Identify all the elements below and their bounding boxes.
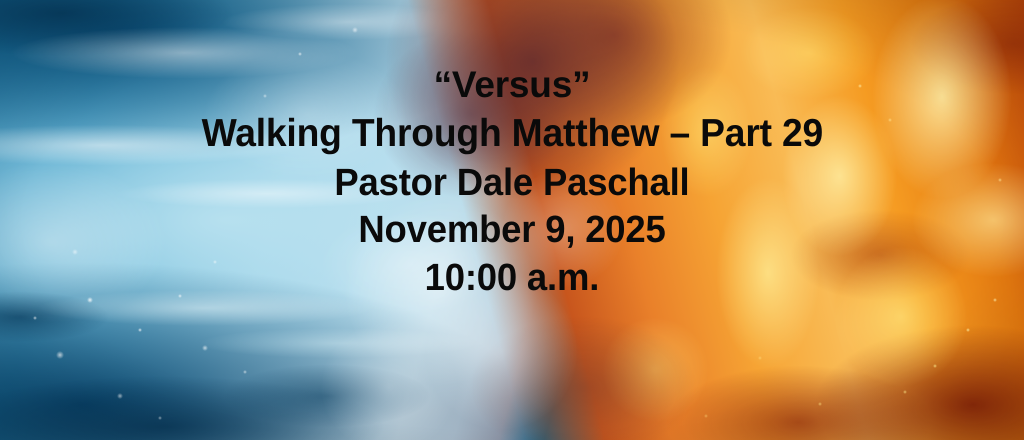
sermon-title: “Versus” [434,66,591,104]
sermon-series: Walking Through Matthew – Part 29 [201,114,822,154]
sermon-service-time: 10:00 a.m. [425,259,600,298]
sermon-title-banner: “Versus” Walking Through Matthew – Part … [0,0,1024,440]
sermon-date: November 9, 2025 [358,211,665,250]
banner-text-block: “Versus” Walking Through Matthew – Part … [0,0,1024,440]
sermon-speaker: Pastor Dale Paschall [334,164,689,203]
